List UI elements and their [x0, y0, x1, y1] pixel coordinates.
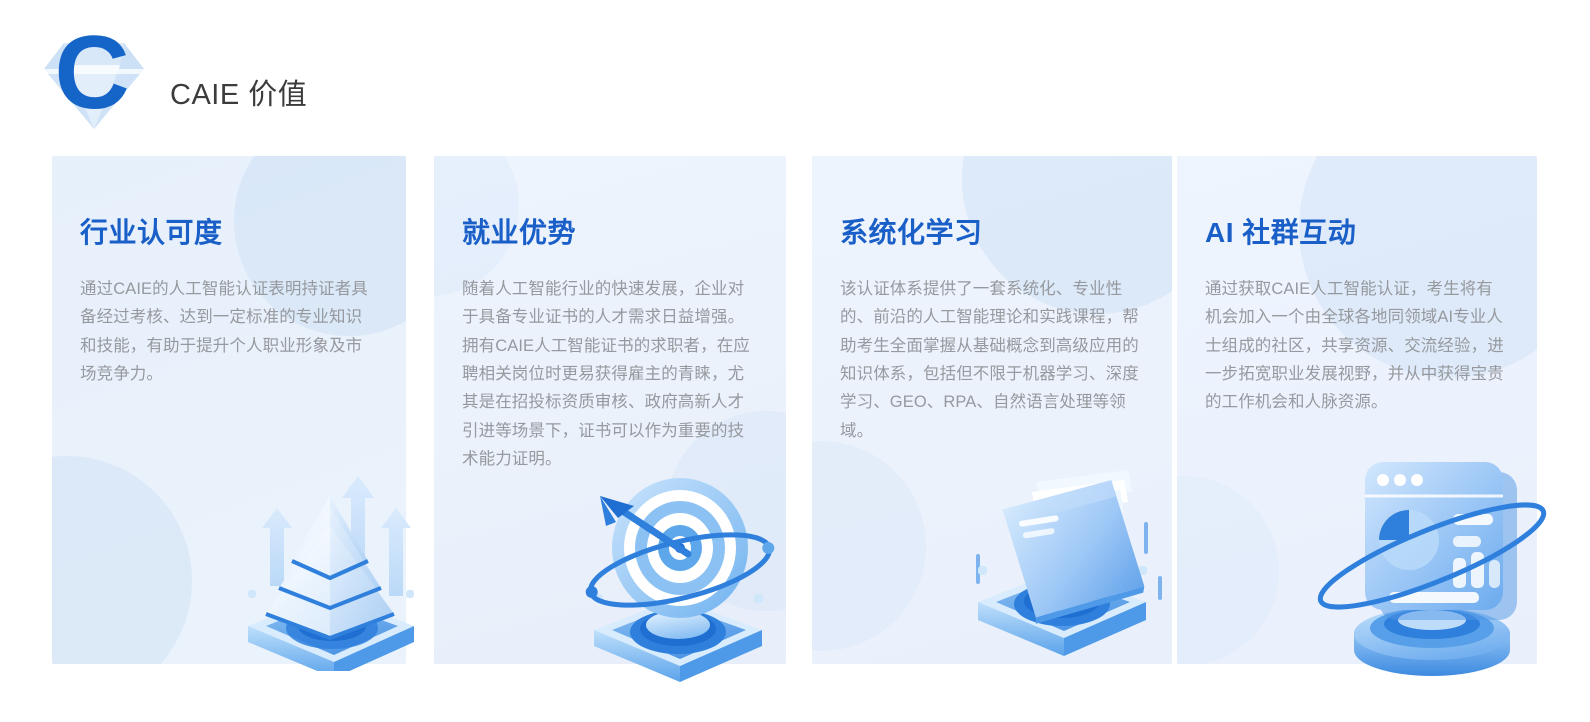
value-card-systematic-learning[interactable]: 系统化学习 该认证体系提供了一套系统化、专业性的、前沿的人工智能理论和实践课程，… [812, 156, 1172, 664]
decorative-circle [52, 456, 192, 664]
card-description: 通过获取CAIE人工智能认证，考生将有机会加入一个由全球各地同领域AI专业人士组… [1205, 249, 1509, 417]
card-title: AI 社群互动 [1205, 156, 1509, 249]
caie-diamond-logo-icon: C [34, 25, 154, 137]
value-card-industry-recognition[interactable]: 行业认可度 通过CAIE的人工智能认证表明持证者具备经过考核、达到一定标准的专业… [52, 156, 406, 664]
card-body: 行业认可度 通过CAIE的人工智能认证表明持证者具备经过考核、达到一定标准的专业… [52, 156, 406, 388]
card-body: AI 社群互动 通过获取CAIE人工智能认证，考生将有机会加入一个由全球各地同领… [1177, 156, 1537, 417]
value-card-ai-community[interactable]: AI 社群互动 通过获取CAIE人工智能认证，考生将有机会加入一个由全球各地同领… [1177, 156, 1537, 664]
card-description: 随着人工智能行业的快速发展，企业对于具备专业证书的人才需求日益增强。拥有CAIE… [462, 249, 758, 474]
decorative-circle [1177, 476, 1279, 664]
card-title: 就业优势 [462, 156, 758, 249]
card-body: 系统化学习 该认证体系提供了一套系统化、专业性的、前沿的人工智能理论和实践课程，… [812, 156, 1172, 445]
decorative-circle [812, 441, 926, 651]
page-title: CAIE 价值 [170, 53, 307, 110]
svg-text:C: C [54, 25, 129, 131]
card-body: 就业优势 随着人工智能行业的快速发展，企业对于具备专业证书的人才需求日益增强。拥… [434, 156, 786, 473]
page-header: C CAIE 价值 [34, 26, 307, 136]
value-cards-row: 行业认可度 通过CAIE的人工智能认证表明持证者具备经过考核、达到一定标准的专业… [0, 156, 1590, 722]
card-description: 该认证体系提供了一套系统化、专业性的、前沿的人工智能理论和实践课程，帮助考生全面… [840, 249, 1144, 445]
card-title: 行业认可度 [80, 156, 378, 249]
card-description: 通过CAIE的人工智能认证表明持证者具备经过考核、达到一定标准的专业知识和技能，… [80, 249, 378, 389]
card-title: 系统化学习 [840, 156, 1144, 249]
value-card-employment-advantage[interactable]: 就业优势 随着人工智能行业的快速发展，企业对于具备专业证书的人才需求日益增强。拥… [434, 156, 786, 664]
